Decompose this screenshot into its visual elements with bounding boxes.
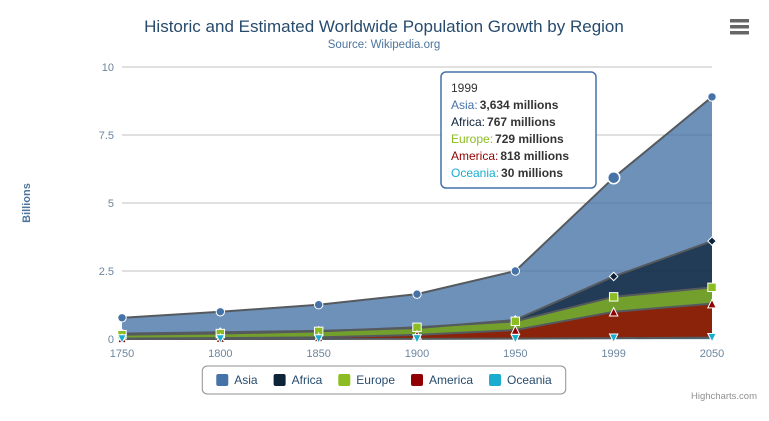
x-axis-tick-label: 1800 <box>208 348 232 360</box>
legend-label: America <box>429 373 473 387</box>
data-point-marker[interactable] <box>609 293 617 301</box>
legend-swatch <box>489 374 501 386</box>
tooltip-row-oceania: Oceania: 30 millions <box>451 166 563 180</box>
legend-label: Africa <box>292 373 323 387</box>
tooltip-row-africa: Africa: 767 millions <box>451 115 556 129</box>
legend-item-asia[interactable]: Asia <box>216 373 258 387</box>
y-axis-tick-label: 0 <box>108 334 114 346</box>
highcharts-container: Historic and Estimated Worldwide Populat… <box>0 0 769 416</box>
data-point-marker[interactable] <box>608 172 620 184</box>
legend-label: Oceania <box>507 373 552 387</box>
chart-legend: AsiaAfricaEuropeAmericaOceania <box>202 366 565 394</box>
legend-swatch <box>338 374 350 386</box>
x-axis-tick-label: 1850 <box>306 348 330 360</box>
tooltip-series-name: Europe: <box>451 132 493 146</box>
legend-swatch <box>411 374 423 386</box>
legend-swatch <box>274 374 286 386</box>
tooltip-series-value: 767 millions <box>487 115 556 129</box>
tooltip-row-asia: Asia: 3,634 millions <box>451 98 559 112</box>
tooltip-row-europe: Europe: 729 millions <box>451 132 564 146</box>
tooltip-series-value: 729 millions <box>495 132 564 146</box>
credits-label: Highcharts.com <box>691 391 757 402</box>
y-axis-tick-label: 5 <box>108 198 114 210</box>
y-axis-title: Billions <box>21 183 33 223</box>
legend-swatch <box>216 374 228 386</box>
legend-item-africa[interactable]: Africa <box>274 373 323 387</box>
population-growth-area-chart: Historic and Estimated Worldwide Populat… <box>0 0 769 416</box>
tooltip-series-name: Africa: <box>451 115 485 129</box>
data-point-marker[interactable] <box>511 317 519 325</box>
legend-item-oceania[interactable]: Oceania <box>489 373 552 387</box>
tooltip-series-name: America: <box>451 149 498 163</box>
tooltip-series-name: Asia: <box>451 98 478 112</box>
tooltip-series-name: Oceania: <box>451 166 499 180</box>
chart-subtitle: Source: Wikipedia.org <box>328 39 441 51</box>
data-point-marker[interactable] <box>708 93 716 101</box>
tooltip-series-value: 3,634 millions <box>480 98 559 112</box>
x-axis-tick-label: 2050 <box>700 348 724 360</box>
y-axis-tick-label: 10 <box>102 62 114 74</box>
chart-tooltip: 1999Asia: 3,634 millionsAfrica: 767 mill… <box>441 72 596 188</box>
hamburger-menu-icon[interactable] <box>725 14 753 36</box>
data-point-marker[interactable] <box>118 314 126 322</box>
legend-item-europe[interactable]: Europe <box>338 373 395 387</box>
y-axis-tick-label: 2.5 <box>99 266 114 278</box>
x-axis-tick-label: 1750 <box>110 348 134 360</box>
data-point-marker[interactable] <box>708 283 716 291</box>
x-axis-tick-label: 1999 <box>601 348 625 360</box>
tooltip-header: 1999 <box>451 81 478 95</box>
data-point-marker[interactable] <box>314 301 322 309</box>
legend-label: Europe <box>356 373 395 387</box>
tooltip-series-value: 818 millions <box>500 149 569 163</box>
tooltip-series-value: 30 millions <box>501 166 563 180</box>
data-point-marker[interactable] <box>413 290 421 298</box>
data-point-marker[interactable] <box>216 308 224 316</box>
x-axis-tick-label: 1900 <box>405 348 429 360</box>
legend-item-america[interactable]: America <box>411 373 473 387</box>
y-axis-tick-label: 7.5 <box>99 130 114 142</box>
x-axis-tick-label: 1950 <box>503 348 527 360</box>
data-point-marker[interactable] <box>511 267 519 275</box>
chart-title: Historic and Estimated Worldwide Populat… <box>144 17 624 36</box>
legend-label: Asia <box>234 373 258 387</box>
tooltip-row-america: America: 818 millions <box>451 149 569 163</box>
